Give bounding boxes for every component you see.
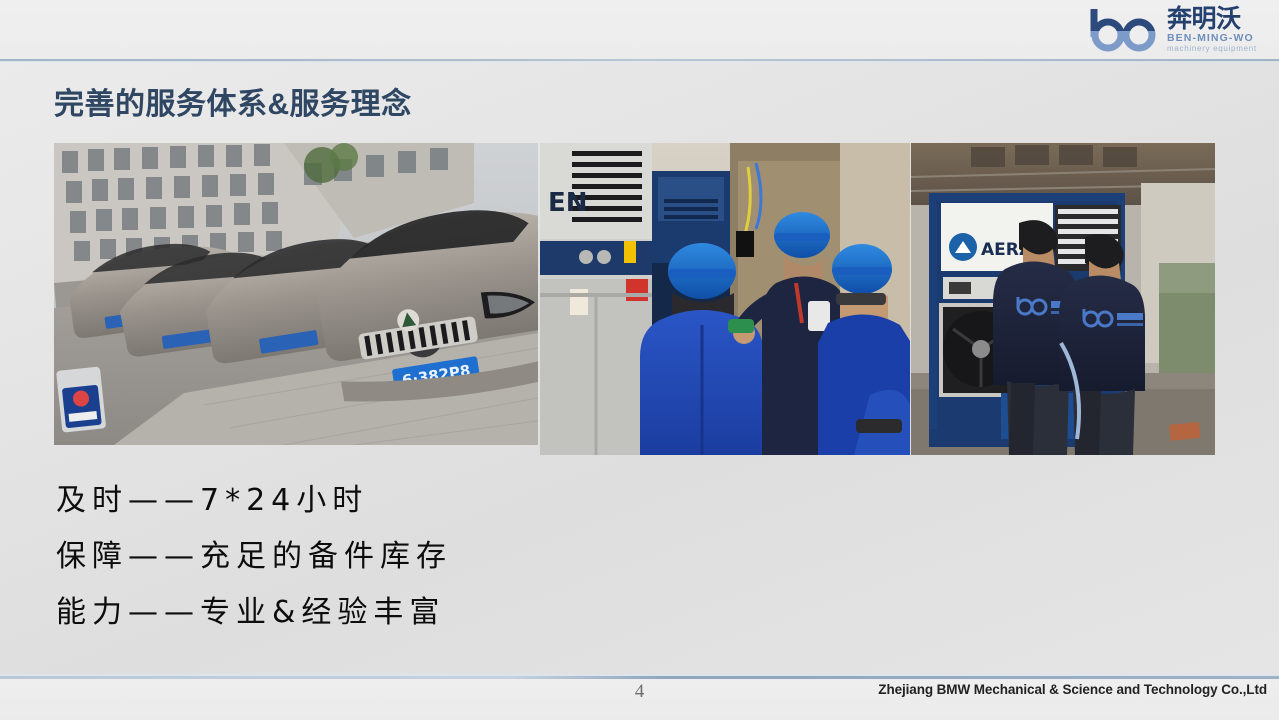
service-line-1: 及时——7*24小时 xyxy=(56,473,756,529)
photo-technicians-servicing-aerzen-unit: AERZEN xyxy=(911,143,1215,455)
header-divider-rule xyxy=(0,59,1279,62)
photo-parked-skoda-service-cars: 6·382P8 xyxy=(54,143,538,445)
logo-latin-name: BEN-MING-WO xyxy=(1167,32,1257,44)
presentation-slide: 奔明沃 BEN-MING-WO machinery equipment 完善的服… xyxy=(0,0,1279,720)
service-statements: 及时——7*24小时 保障——充足的备件库存 能力——专业&经验丰富 xyxy=(56,473,756,641)
service-line-2: 保障——充足的备件库存 xyxy=(56,529,756,585)
photo-technicians-inspecting-compressor: EN xyxy=(540,143,910,455)
logo-tagline: machinery equipment xyxy=(1167,44,1257,54)
bo-monogram-icon xyxy=(1088,7,1162,53)
photo-strip: 6·382P8 xyxy=(54,143,1215,455)
logo-chinese-name: 奔明沃 xyxy=(1167,7,1257,32)
logo-wordmark: 奔明沃 BEN-MING-WO machinery equipment xyxy=(1167,7,1257,54)
footer-company-name: Zhejiang BMW Mechanical & Science and Te… xyxy=(878,682,1267,697)
svg-text:EN: EN xyxy=(548,188,588,218)
service-line-3: 能力——专业&经验丰富 xyxy=(56,585,756,641)
page-title: 完善的服务体系&服务理念 xyxy=(54,79,412,123)
company-logo: 奔明沃 BEN-MING-WO machinery equipment xyxy=(1088,4,1270,56)
